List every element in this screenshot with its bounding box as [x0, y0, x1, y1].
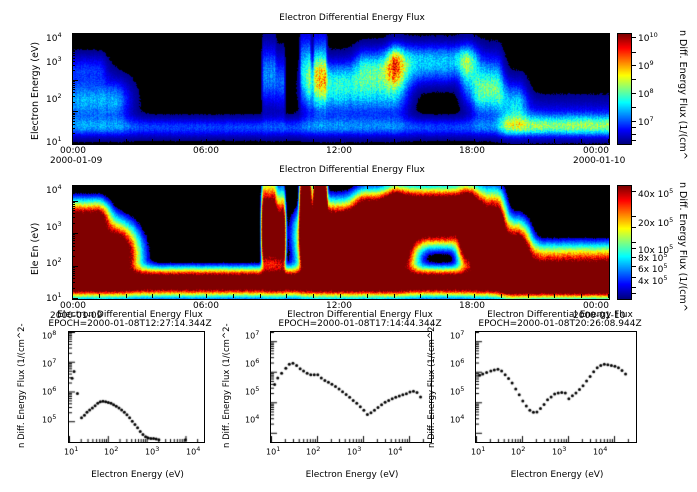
- axis-tick: [126, 185, 127, 189]
- axis-tick: [72, 111, 78, 112]
- axis-tick: [72, 85, 75, 86]
- axis-tick: [72, 102, 75, 103]
- axis-tick: [286, 294, 287, 298]
- panel1-xtick-3: 18:00: [449, 146, 495, 156]
- subplot3-ytick-2: 105: [450, 385, 464, 397]
- colorbar-tick: [631, 107, 636, 108]
- axis-tick: [528, 294, 529, 298]
- axis-tick: [72, 80, 78, 81]
- subplot1-ylabel-group: n Diff. Energy Flux (1/(cm^2-: [17, 448, 142, 458]
- subplot3-ylabel-group: n Diff. Energy Flux (1/(cm^2-: [427, 448, 552, 458]
- axis-tick: [554, 139, 555, 143]
- axis-tick: [179, 139, 180, 143]
- axis-tick: [72, 191, 75, 192]
- subplot2-ytick-1: 106: [245, 357, 259, 369]
- axis-tick: [152, 33, 153, 37]
- colorbar-tick: [631, 227, 636, 228]
- axis-tick: [608, 185, 609, 189]
- axis-tick: [72, 278, 75, 279]
- panel1-colorbar-label: n Diff. Energy Flux (1/(cm^: [677, 30, 688, 160]
- axis-tick: [152, 139, 153, 143]
- axis-tick: [72, 269, 75, 270]
- panel1-cbar-tick-0: 1010: [638, 31, 658, 44]
- subplot2-ylabel: n Diff. Energy Flux (1/(cm^2-: [222, 323, 232, 448]
- subplot3-ytick-1: 106: [450, 357, 464, 369]
- subplot2-xlabel: Electron Energy (eV): [272, 470, 432, 480]
- axis-tick: [72, 83, 75, 84]
- axis-tick: [554, 33, 555, 37]
- axis-tick: [313, 294, 314, 298]
- axis-tick: [581, 294, 582, 298]
- axis-tick: [72, 273, 75, 274]
- axis-tick: [554, 185, 555, 189]
- subplot1-xtick-3: 104: [186, 445, 200, 457]
- axis-tick: [72, 217, 75, 218]
- axis-tick: [313, 185, 314, 189]
- subplot3-xtick-1: 102: [511, 445, 525, 457]
- subplot3-xtick-0: 101: [471, 445, 485, 457]
- panel1-colorbar: [617, 33, 632, 145]
- panel1-xtick-0: 00:002000-01-09: [50, 146, 96, 166]
- colorbar-tick: [631, 242, 636, 243]
- axis-tick: [72, 271, 75, 272]
- axis-tick: [72, 39, 75, 40]
- axis-tick: [72, 282, 75, 283]
- panel2-cbar-label-group: n Diff. Energy Flux (1/(cm^: [688, 182, 697, 193]
- axis-tick: [581, 139, 582, 143]
- panel2-heatmap: [72, 185, 610, 300]
- axis-tick: [72, 204, 75, 205]
- axis-tick: [528, 33, 529, 37]
- axis-tick: [608, 294, 609, 298]
- subplot3-plot-area: [475, 331, 637, 443]
- axis-tick: [581, 33, 582, 37]
- axis-tick: [394, 33, 395, 37]
- axis-tick: [72, 65, 75, 66]
- axis-tick: [72, 61, 75, 62]
- colorbar-tick: [631, 216, 636, 217]
- panel2-ylabel: Ele En (eV): [30, 223, 41, 275]
- subplot3-ytick-0: 107: [450, 329, 464, 341]
- axis-tick: [447, 139, 448, 143]
- axis-tick: [72, 118, 75, 119]
- axis-tick: [260, 139, 261, 143]
- axis-tick: [313, 33, 314, 37]
- axis-tick: [474, 294, 475, 298]
- axis-tick: [179, 294, 180, 298]
- axis-tick: [72, 116, 75, 117]
- panel2-ytick-2: 102: [46, 256, 62, 269]
- axis-tick: [72, 202, 75, 203]
- axis-tick: [528, 139, 529, 143]
- colorbar-tick: [631, 248, 636, 249]
- axis-tick: [394, 294, 395, 298]
- axis-tick: [72, 206, 75, 207]
- axis-tick: [206, 33, 207, 37]
- axis-tick: [501, 139, 502, 143]
- panel2-title: Electron Differential Energy Flux: [232, 165, 472, 175]
- axis-tick: [72, 92, 75, 93]
- axis-tick: [72, 250, 75, 251]
- axis-tick: [72, 143, 78, 144]
- axis-tick: [126, 139, 127, 143]
- axis-tick: [367, 294, 368, 298]
- axis-tick: [72, 51, 75, 52]
- axis-tick: [72, 201, 78, 202]
- axis-tick: [72, 81, 75, 82]
- colorbar-tick: [631, 65, 636, 66]
- axis-tick: [340, 294, 341, 298]
- subplot1-ytick-3: 105: [42, 413, 56, 425]
- subplot1-ytick-2: 106: [42, 385, 56, 397]
- axis-tick: [72, 58, 75, 59]
- panel1-title: Electron Differential Energy Flux: [232, 13, 472, 23]
- axis-tick: [206, 139, 207, 143]
- panel1-ytick-2: 102: [46, 92, 62, 105]
- axis-tick: [233, 139, 234, 143]
- subplot2-xtick-3: 104: [388, 445, 402, 457]
- axis-tick: [233, 294, 234, 298]
- colorbar-tick: [631, 37, 636, 38]
- axis-tick: [72, 233, 78, 234]
- axis-tick: [554, 294, 555, 298]
- subplot1-subtitle: EPOCH=2000-01-08T12:27:14.344Z: [25, 319, 235, 329]
- axis-tick: [72, 133, 75, 134]
- axis-tick: [608, 139, 609, 143]
- axis-tick: [72, 267, 75, 268]
- axis-tick: [260, 294, 261, 298]
- colorbar-tick: [631, 52, 636, 53]
- axis-tick: [501, 185, 502, 189]
- axis-tick: [99, 139, 100, 143]
- axis-tick: [260, 185, 261, 189]
- axis-tick: [72, 121, 75, 122]
- subplot1-xtick-0: 101: [64, 445, 78, 457]
- panel1-xtick-4: 00:002000-01-10: [573, 146, 619, 166]
- axis-tick: [72, 243, 75, 244]
- panel1-ytick-1: 103: [46, 55, 62, 68]
- axis-tick: [72, 208, 75, 209]
- panel1-ylabel: Electron Energy (eV): [30, 42, 41, 140]
- subplot2-ytick-0: 107: [245, 329, 259, 341]
- subplot2-xtick-0: 101: [266, 445, 280, 457]
- axis-tick: [72, 213, 75, 214]
- axis-tick: [233, 33, 234, 37]
- panel1-cbar-tick-3: 107: [638, 115, 654, 128]
- subplot3-ylabel: n Diff. Energy Flux (1/(cm^2-: [427, 323, 437, 448]
- axis-tick: [152, 185, 153, 189]
- axis-tick: [420, 33, 421, 37]
- panel2-colorbar: [617, 185, 632, 300]
- panel1-cbar-tick-1: 109: [638, 59, 654, 72]
- panel1-cbar-tick-2: 108: [638, 87, 654, 100]
- axis-tick: [72, 185, 73, 189]
- axis-tick: [152, 294, 153, 298]
- axis-tick: [72, 96, 75, 97]
- axis-tick: [72, 53, 75, 54]
- axis-tick: [420, 185, 421, 189]
- subplot2-xtick-1: 102: [306, 445, 320, 457]
- axis-tick: [447, 294, 448, 298]
- colorbar-tick: [631, 127, 636, 128]
- axis-tick: [340, 139, 341, 143]
- subplot1-plot-area: [68, 331, 205, 443]
- axis-tick: [313, 139, 314, 143]
- axis-tick: [72, 50, 75, 51]
- panel2-ytick-0: 104: [46, 183, 62, 196]
- axis-tick: [474, 33, 475, 37]
- colorbar-tick: [631, 266, 636, 267]
- subplot2-ylabel-group: n Diff. Energy Flux (1/(cm^2-: [222, 448, 347, 458]
- axis-tick: [286, 185, 287, 189]
- axis-tick: [72, 210, 75, 211]
- axis-tick: [72, 266, 78, 267]
- subplot1-xtick-2: 103: [145, 445, 159, 457]
- axis-tick: [72, 298, 78, 299]
- axis-tick: [340, 185, 341, 189]
- colorbar-tick: [631, 140, 636, 141]
- panel2-cbar-tick-1: 20x 105: [638, 216, 673, 229]
- axis-tick: [233, 185, 234, 189]
- axis-tick: [501, 33, 502, 37]
- axis-tick: [72, 124, 75, 125]
- subplot1-xlabel: Electron Energy (eV): [70, 470, 205, 480]
- colorbar-tick: [631, 191, 636, 192]
- axis-tick: [179, 33, 180, 37]
- axis-tick: [72, 294, 73, 298]
- subplot3-xtick-3: 104: [593, 445, 607, 457]
- axis-tick: [72, 275, 75, 276]
- subplot1-ytick-0: 108: [42, 329, 56, 341]
- panel2-cbar-tick-0: 40x 105: [638, 187, 673, 200]
- axis-tick: [367, 139, 368, 143]
- axis-tick: [286, 139, 287, 143]
- colorbar-tick: [631, 79, 636, 80]
- axis-tick: [72, 236, 75, 237]
- axis-tick: [367, 33, 368, 37]
- axis-tick: [72, 114, 75, 115]
- axis-tick: [394, 185, 395, 189]
- colorbar-tick: [631, 277, 636, 278]
- panel1-heatmap: [72, 33, 610, 145]
- axis-tick: [179, 185, 180, 189]
- axis-tick: [72, 238, 75, 239]
- panel2-cbar-tick-5: 4x 105: [638, 274, 668, 287]
- subplot3-xlabel: Electron Energy (eV): [477, 470, 637, 480]
- panel2-ytick-1: 103: [46, 220, 62, 233]
- axis-tick: [206, 185, 207, 189]
- axis-tick: [581, 185, 582, 189]
- colorbar-tick: [631, 93, 636, 94]
- axis-tick: [420, 294, 421, 298]
- axis-tick: [72, 246, 75, 247]
- axis-tick: [608, 33, 609, 37]
- axis-tick: [72, 234, 75, 235]
- colorbar-tick: [631, 287, 636, 288]
- axis-tick: [72, 139, 73, 143]
- axis-tick: [72, 223, 75, 224]
- axis-tick: [447, 33, 448, 37]
- subplot3-ytick-3: 104: [450, 413, 464, 425]
- axis-tick: [99, 185, 100, 189]
- axis-tick: [474, 185, 475, 189]
- axis-tick: [72, 89, 75, 90]
- axis-tick: [206, 294, 207, 298]
- panel1-xtick-1: 06:00: [183, 146, 229, 156]
- subplot2-ytick-2: 105: [245, 385, 259, 397]
- axis-tick: [72, 33, 73, 37]
- subplot1-xtick-1: 102: [104, 445, 118, 457]
- axis-tick: [72, 240, 75, 241]
- colorbar-tick: [631, 293, 636, 294]
- axis-tick: [420, 139, 421, 143]
- panel1-xtick-2: 12:00: [316, 146, 362, 156]
- axis-tick: [99, 294, 100, 298]
- panel2-ylabel-group: Ele En (eV): [30, 275, 82, 286]
- subplot2-xtick-2: 103: [347, 445, 361, 457]
- axis-tick: [72, 288, 75, 289]
- axis-tick: [126, 294, 127, 298]
- axis-tick: [501, 294, 502, 298]
- subplot1-ylabel: n Diff. Energy Flux (1/(cm^2-: [17, 323, 27, 448]
- axis-tick: [99, 33, 100, 37]
- axis-tick: [72, 70, 75, 71]
- axis-tick: [72, 87, 75, 88]
- colorbar-tick: [631, 134, 636, 135]
- axis-tick: [72, 55, 75, 56]
- axis-tick: [394, 139, 395, 143]
- axis-tick: [474, 139, 475, 143]
- axis-tick: [126, 33, 127, 37]
- axis-tick: [286, 33, 287, 37]
- colorbar-tick: [631, 257, 636, 258]
- axis-tick: [447, 185, 448, 189]
- panel2-colorbar-label: n Diff. Energy Flux (1/(cm^: [677, 182, 688, 312]
- subplot3-xtick-2: 103: [552, 445, 566, 457]
- subplot1-ytick-1: 107: [42, 357, 56, 369]
- colorbar-tick: [631, 121, 636, 122]
- axis-tick: [72, 48, 78, 49]
- subplot2-ytick-3: 104: [245, 413, 259, 425]
- subplot3-subtitle: EPOCH=2000-01-08T20:26:08.944Z: [455, 319, 665, 329]
- panel1-cbar-label-group: n Diff. Energy Flux (1/(cm^: [688, 30, 697, 41]
- axis-tick: [72, 256, 75, 257]
- axis-tick: [72, 128, 75, 129]
- panel1-ytick-0: 104: [46, 31, 62, 44]
- axis-tick: [340, 33, 341, 37]
- axis-tick: [528, 185, 529, 189]
- axis-tick: [260, 33, 261, 37]
- axis-tick: [367, 185, 368, 189]
- subplot2-plot-area: [270, 331, 432, 443]
- axis-tick: [72, 113, 75, 114]
